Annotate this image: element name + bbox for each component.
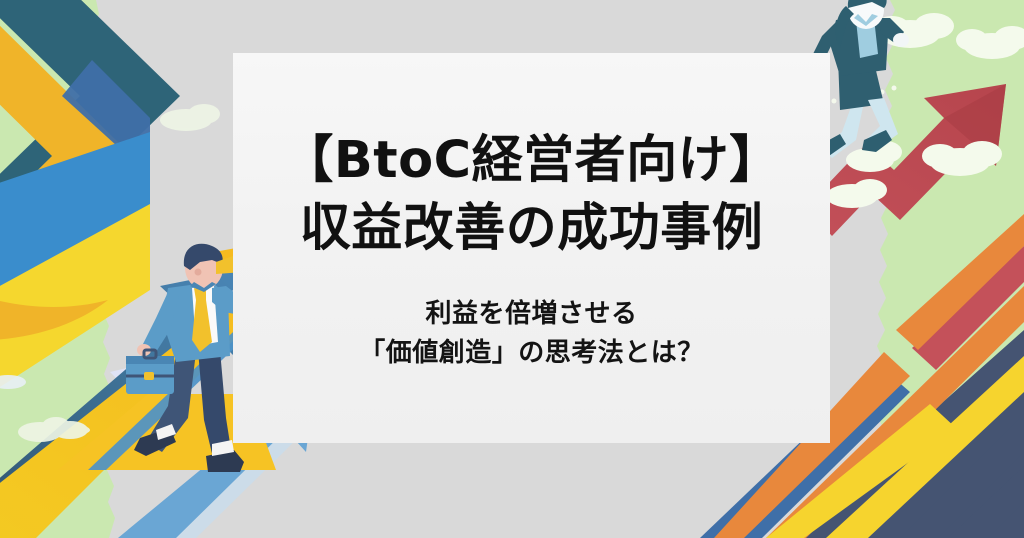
title-line-1: 【BtoC経営者向け】 xyxy=(282,127,780,195)
page-title: 【BtoC経営者向け】 収益改善の成功事例 xyxy=(282,127,780,263)
subtitle-line-1: 利益を倍増させる xyxy=(359,295,704,335)
content-panel: 【BtoC経営者向け】 収益改善の成功事例 利益を倍増させる 「価値創造」の思考… xyxy=(233,53,830,443)
subtitle-line-2: 「価値創造」の思考法とは？ xyxy=(359,334,704,374)
banner-root: 【BtoC経営者向け】 収益改善の成功事例 利益を倍増させる 「価値創造」の思考… xyxy=(0,0,1024,538)
title-line-2: 収益改善の成功事例 xyxy=(282,195,780,263)
page-subtitle: 利益を倍増させる 「価値創造」の思考法とは？ xyxy=(359,295,704,374)
